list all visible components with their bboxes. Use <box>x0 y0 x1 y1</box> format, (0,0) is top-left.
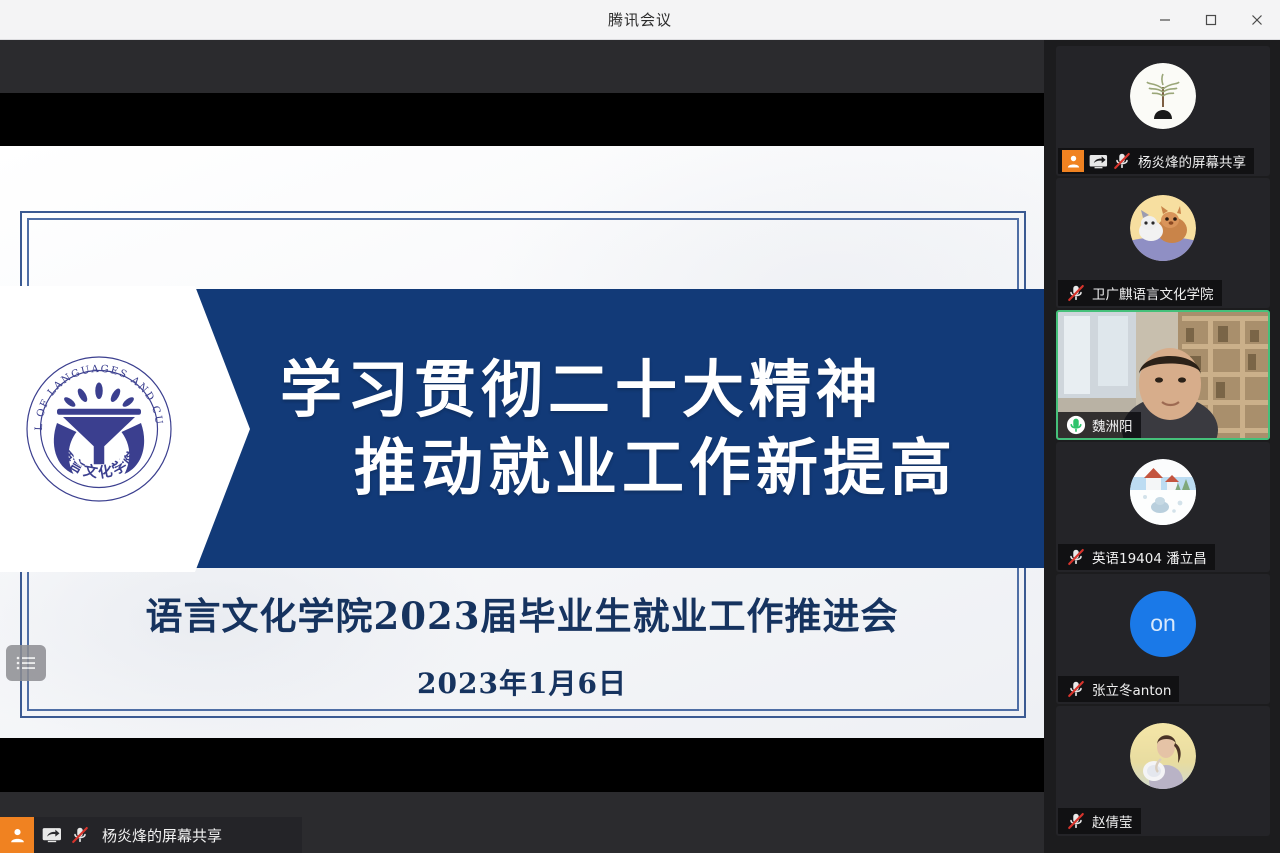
participant-namebar: 英语19404 潘立昌 <box>1058 544 1215 570</box>
mic-muted-icon <box>1066 679 1086 699</box>
avatar <box>1130 195 1196 261</box>
presentation-slide: 学习贯彻二十大精神 推动就业工作新提高 SCHOOL OF <box>0 146 1044 738</box>
avatar <box>1130 63 1196 129</box>
participant-tile[interactable]: 英语19404 潘立昌 <box>1056 442 1270 572</box>
mic-status <box>1066 811 1086 831</box>
participant-tile[interactable]: on 张立冬anton <box>1056 574 1270 704</box>
participant-name: 魏洲阳 <box>1092 415 1133 435</box>
participant-namebar: 张立冬anton <box>1058 676 1179 702</box>
mic-muted-icon <box>1066 283 1086 303</box>
slide-subtitle: 语言文化学院2023届毕业生就业工作推进会 <box>0 586 1044 640</box>
participant-name: 英语19404 潘立昌 <box>1092 547 1207 567</box>
screen-share-icon <box>1089 154 1108 169</box>
participant-sidebar[interactable]: 杨炎烽的屏幕共享 <box>1044 40 1280 853</box>
mic-muted-icon <box>1066 547 1086 567</box>
window-title: 腾讯会议 <box>608 9 672 30</box>
participant-name: 卫广麒语言文化学院 <box>1092 283 1214 303</box>
cartoon-cat-avatar-icon <box>1130 195 1196 261</box>
participant-namebar: 赵倩莹 <box>1058 808 1141 834</box>
slide-banner-text: 学习贯彻二十大精神 推动就业工作新提高 <box>280 351 957 506</box>
maximize-button[interactable] <box>1188 0 1234 40</box>
avatar <box>1130 459 1196 525</box>
banner-line-1: 学习贯彻二十大精神 <box>280 351 957 429</box>
screen-share-icon <box>42 827 62 843</box>
slide-list-button[interactable] <box>6 645 46 681</box>
screen-share-badge <box>42 827 62 843</box>
snow-village-avatar-icon <box>1130 459 1196 525</box>
slide-date: 2023年1月6日 <box>0 662 1044 702</box>
school-logo: SCHOOL OF LANGUAGES AND CULTURES 语言文化学院 <box>24 354 174 504</box>
mic-status <box>1112 151 1132 171</box>
slide-subtitle-block: 语言文化学院2023届毕业生就业工作推进会 2023年1月6日 <box>0 586 1044 702</box>
avatar: on <box>1130 591 1196 657</box>
participant-tile[interactable]: 魏洲阳 <box>1056 310 1270 440</box>
avatar <box>1130 723 1196 789</box>
plant-avatar-icon <box>1130 63 1196 129</box>
mic-muted-icon <box>1066 811 1086 831</box>
share-status-label: 杨炎烽的屏幕共享 <box>102 825 222 846</box>
minimize-icon <box>1159 14 1171 26</box>
host-badge <box>0 817 34 853</box>
mic-active-icon <box>1066 415 1086 435</box>
host-icon <box>1066 154 1081 169</box>
minimize-button[interactable] <box>1142 0 1188 40</box>
school-emblem-icon: SCHOOL OF LANGUAGES AND CULTURES 语言文化学院 <box>24 354 174 504</box>
shared-screen-stage[interactable]: 学习贯彻二十大精神 推动就业工作新提高 SCHOOL OF <box>0 40 1044 853</box>
banner-line-2: 推动就业工作新提高 <box>354 429 957 507</box>
maximize-icon <box>1205 14 1217 26</box>
girl-portrait-avatar-icon <box>1130 723 1196 789</box>
mic-status <box>1066 415 1086 435</box>
share-status-bar: 杨炎烽的屏幕共享 <box>0 817 302 853</box>
participant-tile[interactable]: 杨炎烽的屏幕共享 <box>1056 46 1270 176</box>
participant-name: 赵倩莹 <box>1092 811 1133 831</box>
close-button[interactable] <box>1234 0 1280 40</box>
share-bar-mic <box>70 825 90 845</box>
tencent-meeting-window: 腾讯会议 <box>0 0 1280 853</box>
participant-name: 杨炎烽的屏幕共享 <box>1138 151 1246 171</box>
participant-tile[interactable]: 赵倩莹 <box>1056 706 1270 836</box>
list-icon <box>16 656 36 670</box>
participant-tile[interactable]: 卫广麒语言文化学院 <box>1056 178 1270 308</box>
avatar-initials: on <box>1150 610 1176 637</box>
participant-namebar: 杨炎烽的屏幕共享 <box>1058 148 1254 174</box>
mic-status <box>1066 283 1086 303</box>
participant-name: 张立冬anton <box>1092 679 1171 699</box>
window-controls <box>1142 0 1280 40</box>
mic-muted-icon <box>1112 151 1132 171</box>
title-bar: 腾讯会议 <box>0 0 1280 40</box>
screen-share-badge <box>1088 151 1108 171</box>
participant-namebar: 魏洲阳 <box>1058 412 1141 438</box>
host-badge <box>1062 150 1084 172</box>
participant-namebar: 卫广麒语言文化学院 <box>1058 280 1222 306</box>
mic-status <box>1066 679 1086 699</box>
mic-muted-icon <box>70 825 90 845</box>
mic-status <box>1066 547 1086 567</box>
letterbox-bottom <box>0 738 1044 792</box>
close-icon <box>1251 14 1263 26</box>
host-icon <box>9 827 26 844</box>
